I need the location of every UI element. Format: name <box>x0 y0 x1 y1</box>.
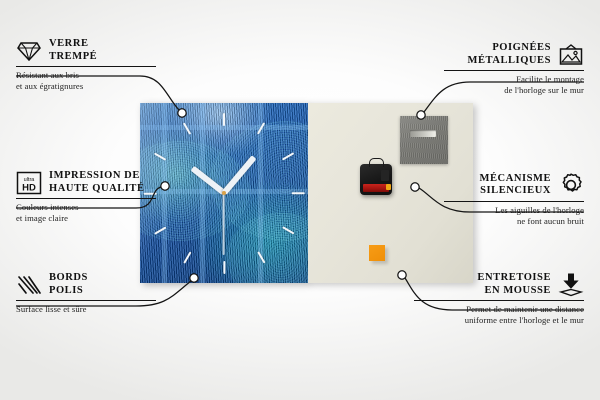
wall-mount-frame-icon <box>558 43 584 67</box>
callout-divider <box>444 201 584 202</box>
callout-title-line2: POLIS <box>49 285 88 298</box>
callout-verre-trempe[interactable]: VERRE TREMPÉ Résistant aux bris et aux é… <box>16 38 156 91</box>
callout-subtitle-line2: uniforme entre l'horloge et le mur <box>414 315 584 326</box>
product-image <box>140 103 473 283</box>
polished-edges-icon <box>16 274 42 296</box>
callout-subtitle-line1: Permet de maintenir une distance <box>414 304 584 315</box>
callout-divider <box>16 198 156 199</box>
callout-subtitle-line1: Facilite le montage <box>444 74 584 85</box>
clock-tick <box>183 251 192 263</box>
callout-title-line2: SILENCIEUX <box>480 185 551 198</box>
clock-center-cap <box>222 191 226 195</box>
callout-entretoise-en-mousse[interactable]: ENTRETOISE EN MOUSSE Permet de maintenir… <box>414 272 584 325</box>
diamond-icon <box>16 40 42 62</box>
callout-title-line2: TREMPÉ <box>49 51 97 64</box>
callout-title-line1: POIGNÉES <box>468 42 551 55</box>
callout-title-line1: IMPRESSION DE <box>49 170 145 183</box>
callout-title-line2: HAUTE QUALITÉ <box>49 183 145 196</box>
clock-tick <box>223 261 225 274</box>
gear-icon <box>558 172 584 198</box>
second-hand <box>223 193 225 255</box>
metal-hanger-plate <box>400 116 448 164</box>
callout-divider <box>414 300 584 301</box>
mechanism-hanging-loop <box>369 158 384 167</box>
callout-title-line2: MÉTALLIQUES <box>468 55 551 68</box>
callout-subtitle-line1: Surface lisse et sûre <box>16 304 156 315</box>
callout-subtitle-line1: Les aiguilles de l'horloge <box>444 205 584 216</box>
callout-poignees-metalliques[interactable]: POIGNÉES MÉTALLIQUES Facilite le montage… <box>444 42 584 95</box>
clock-front-panel <box>140 103 308 283</box>
callout-divider <box>16 300 156 301</box>
mechanism-detail <box>381 170 389 181</box>
callout-divider <box>16 66 156 67</box>
battery <box>363 184 389 192</box>
ultra-hd-icon: ultra HD <box>16 171 42 195</box>
callout-title-line1: ENTRETOISE <box>477 272 551 285</box>
svg-text:HD: HD <box>22 182 36 193</box>
callout-subtitle-line2: et aux égratignures <box>16 81 156 92</box>
callout-mecanisme-silencieux[interactable]: MÉCANISME SILENCIEUX Les aiguilles de l'… <box>444 172 584 226</box>
clock-tick <box>291 192 304 194</box>
callout-impression-haute-qualite[interactable]: ultra HD IMPRESSION DE HAUTE QUALITÉ Cou… <box>16 170 156 223</box>
callout-subtitle-line1: Résistant aux bris <box>16 70 156 81</box>
callout-subtitle-line1: Couleurs intenses <box>16 202 156 213</box>
callout-title-line1: VERRE <box>49 38 97 51</box>
callout-divider <box>444 70 584 71</box>
foam-spacer-arrow-icon <box>558 273 584 297</box>
battery-terminal <box>386 184 391 190</box>
foam-spacer-pad <box>369 245 385 261</box>
callout-subtitle-line2: de l'horloge sur le mur <box>444 85 584 96</box>
callout-bords-polis[interactable]: BORDS POLIS Surface lisse et sûre <box>16 272 156 315</box>
callout-subtitle-line2: ne font aucun bruit <box>444 216 584 227</box>
callout-title-line1: MÉCANISME <box>480 173 551 186</box>
hanger-slot <box>410 130 436 137</box>
callout-subtitle-line2: et image claire <box>16 213 156 224</box>
callout-title-line1: BORDS <box>49 272 88 285</box>
callout-title-line2: EN MOUSSE <box>477 285 551 298</box>
clock-tick <box>223 113 225 126</box>
clock-mechanism <box>360 164 392 195</box>
infographic-canvas: VERRE TREMPÉ Résistant aux bris et aux é… <box>0 0 600 400</box>
